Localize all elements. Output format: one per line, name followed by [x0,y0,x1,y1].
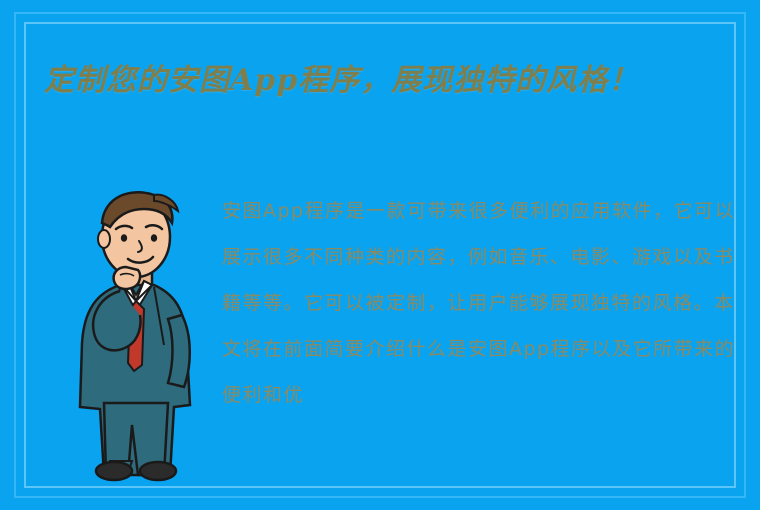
body-paragraph: 安图App程序是一款可带来很多便利的应用软件，它可以展示很多不同种类的内容，例如… [222,188,736,418]
poster-canvas: 定制您的安图App程序，展现独特的风格！ [0,0,760,510]
businessman-thinking-illustration [60,175,210,485]
page-title: 定制您的安图App程序，展现独特的风格！ [44,58,734,104]
